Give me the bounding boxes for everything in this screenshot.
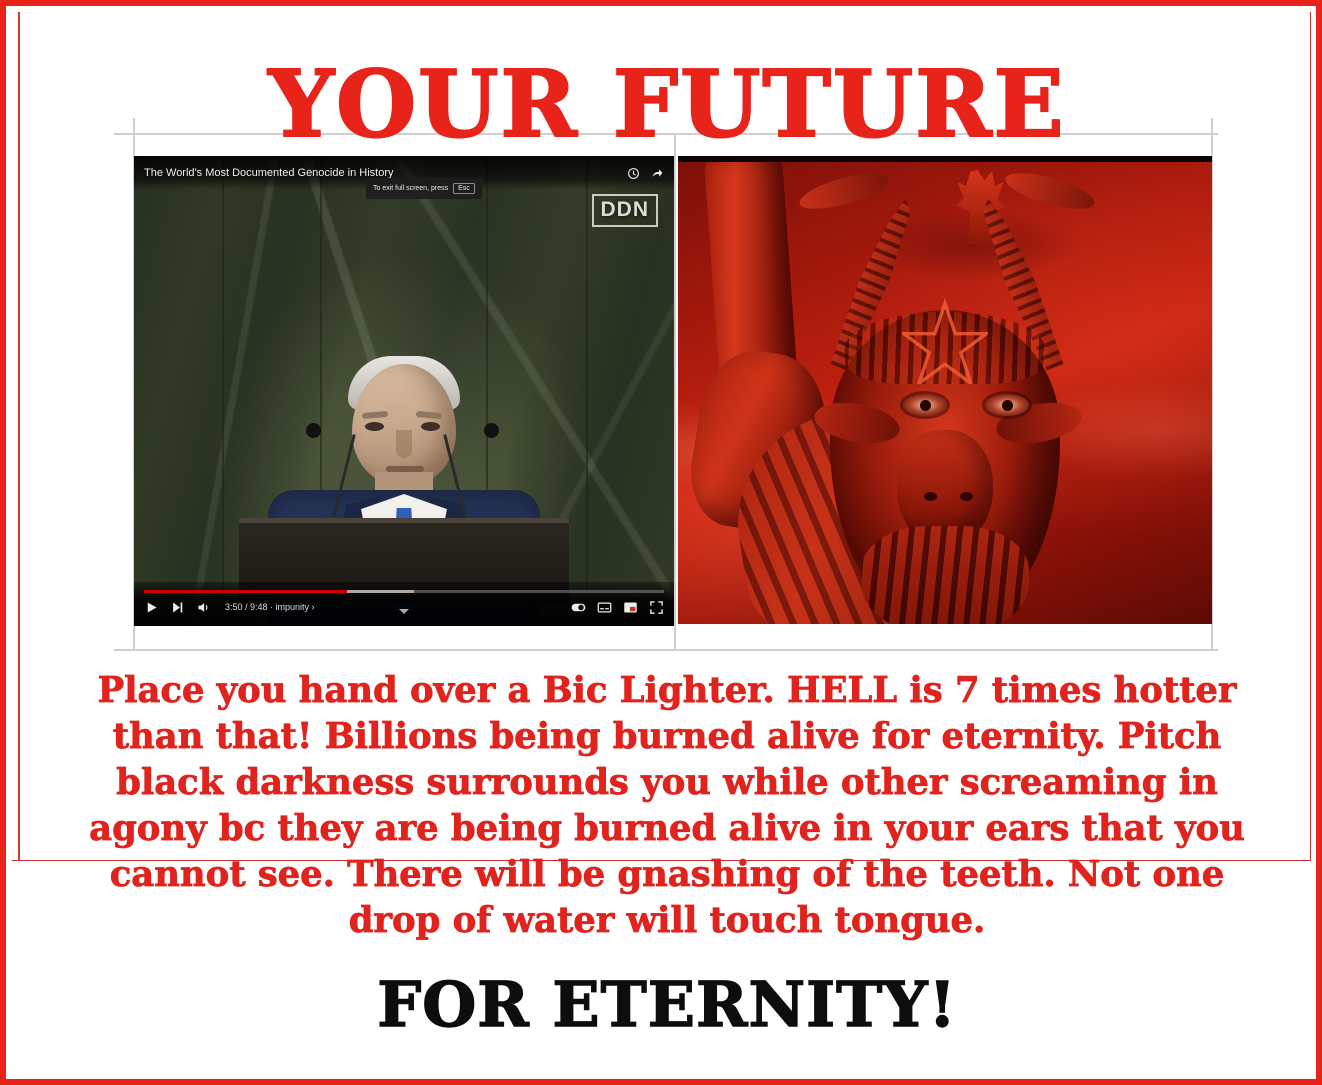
fullscreen-tooltip-text: To exit full screen, press: [373, 185, 448, 192]
video-player[interactable]: The World's Most Documented Genocide in …: [134, 156, 674, 626]
goat-nostril: [924, 492, 937, 501]
miniplayer-icon[interactable]: [623, 600, 638, 615]
right-controls: [571, 600, 664, 615]
page-title: YOUR FUTURE: [6, 58, 1322, 150]
panel-seam: [222, 156, 224, 626]
microphone-head: [306, 423, 321, 438]
speaker-eye: [365, 422, 384, 431]
clock-icon[interactable]: [627, 167, 640, 180]
time-and-chapter-label: 3:50 / 9:48 · impunity ›: [225, 602, 315, 612]
subtitles-icon[interactable]: [597, 600, 612, 615]
volume-icon[interactable]: [196, 600, 211, 615]
fullscreen-tooltip: To exit full screen, press Esc: [366, 178, 482, 199]
next-icon[interactable]: [170, 600, 185, 615]
chevron-down-icon[interactable]: [399, 609, 409, 614]
goat-pupil: [920, 400, 931, 411]
share-icon[interactable]: [651, 167, 664, 180]
pentagram-icon: [902, 298, 988, 384]
autoplay-icon[interactable]: [571, 600, 586, 615]
exit-fullscreen-icon[interactable]: [649, 600, 664, 615]
speaker-eye: [421, 422, 440, 431]
top-bar-icons: [627, 167, 664, 180]
baphomet-image: [678, 156, 1212, 624]
play-icon[interactable]: [144, 600, 159, 615]
progress-bar[interactable]: [144, 590, 664, 593]
goat-beard: [861, 526, 1029, 624]
microphone-head: [484, 423, 499, 438]
goat-nostril: [960, 492, 973, 501]
video-title: The World's Most Documented Genocide in …: [144, 167, 394, 179]
controls-row: 3:50 / 9:48 · impunity ›: [134, 594, 674, 620]
esc-key-badge: Esc: [453, 183, 475, 194]
player-control-bar[interactable]: 3:50 / 9:48 · impunity ›: [134, 582, 674, 626]
speaker-nose: [396, 430, 412, 458]
media-strip: The World's Most Documented Genocide in …: [134, 156, 1212, 626]
poster-canvas: YOUR FUTURE: [0, 0, 1322, 1085]
panel-seam: [586, 156, 588, 626]
progress-played: [144, 590, 347, 593]
goat-pupil: [1002, 400, 1013, 411]
footer-title: FOR ETERNITY!: [6, 974, 1322, 1036]
body-text: Place you hand over a Bic Lighter. HELL …: [62, 668, 1272, 944]
ddn-watermark: DDN: [592, 194, 659, 227]
guide-line-bottom: [114, 649, 1218, 651]
